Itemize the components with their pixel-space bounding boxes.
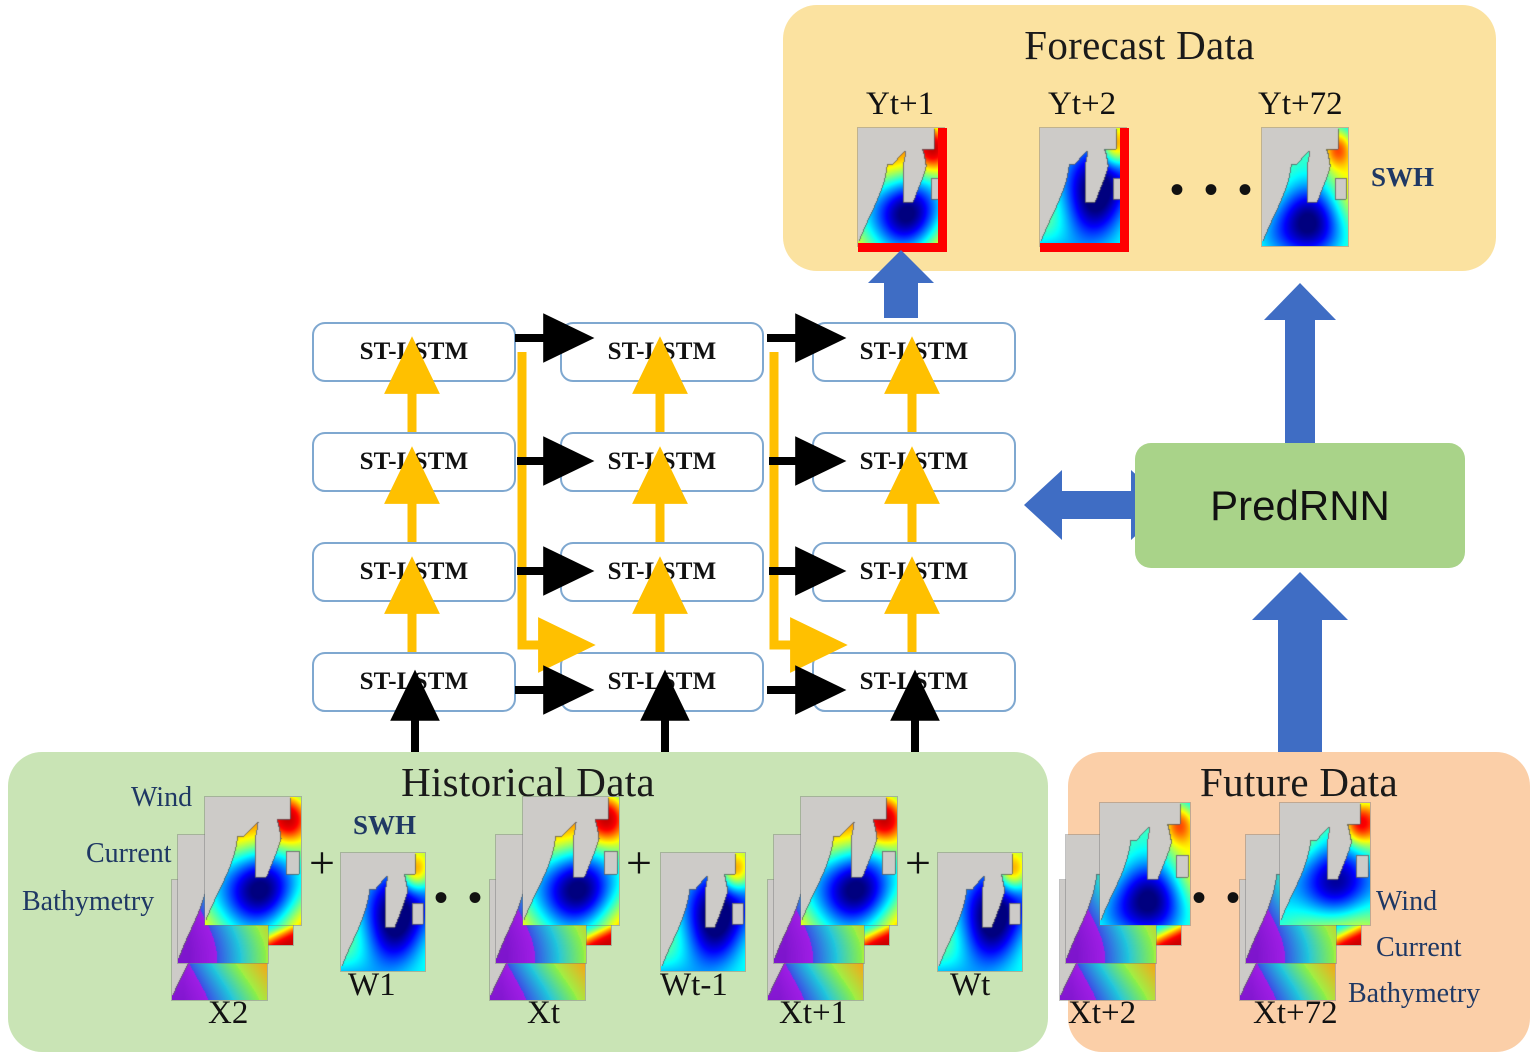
forecast-tile-highlight-0	[938, 128, 947, 252]
historical-tile-swh-1	[341, 853, 425, 971]
forecast-tile-label-2: Yt+72	[1258, 86, 1343, 123]
lstm-cell-r0c1[interactable]: ST-LSTM	[560, 322, 764, 382]
historical-tile-label-4: Xt+1	[779, 995, 847, 1032]
historical-plus-0: +	[309, 840, 335, 886]
lstm-cell-r1c0[interactable]: ST-LSTM	[312, 432, 516, 492]
historical-tile-label-5: Wt	[950, 967, 990, 1004]
historical-plus-1: +	[626, 840, 652, 886]
future-tile-label-0: Xt+2	[1068, 995, 1136, 1032]
lstm-cell-r2c1[interactable]: ST-LSTM	[560, 542, 764, 602]
memory-handoff-col0-col1	[522, 352, 548, 645]
lstm-cell-r0c2[interactable]: ST-LSTM	[812, 322, 1016, 382]
lstm-cell-r3c1[interactable]: ST-LSTM	[560, 652, 764, 712]
lstm-cell-r2c0[interactable]: ST-LSTM	[312, 542, 516, 602]
historical-tile-label-1: W1	[348, 967, 396, 1004]
blue-arrow-future-predrnn	[1252, 572, 1348, 752]
historical-tile-swh-2	[523, 797, 619, 925]
hidden-state-arrows	[515, 338, 804, 690]
future-tile-swh-1	[1280, 803, 1370, 925]
forecast-tile-highlight-0b	[858, 243, 947, 252]
historical-tile-label-2: Xt	[527, 995, 560, 1032]
historical-tile-label-0: X2	[208, 995, 248, 1032]
predrnn-block[interactable]: PredRNN	[1135, 443, 1465, 568]
forecast-map-tile-2	[1262, 128, 1348, 246]
forecast-tile-highlight-1	[1120, 128, 1129, 252]
memory-flow-arrows	[412, 384, 912, 652]
forecast-map-tile-1	[1040, 128, 1126, 246]
forecast-data-title: Forecast Data	[783, 21, 1496, 69]
memory-handoff-col1-col2	[774, 352, 800, 645]
historical-tile-swh-0	[205, 797, 301, 925]
future-tile-swh-0	[1100, 803, 1190, 925]
forecast-swh-label: SWH	[1371, 162, 1434, 193]
future-tile-label-1: Xt+72	[1253, 995, 1338, 1032]
lstm-cell-r1c2[interactable]: ST-LSTM	[812, 432, 1016, 492]
historical-variable-bathymetry: Bathymetry	[22, 886, 154, 918]
future-variable-current: Current	[1376, 932, 1462, 964]
future-variable-bathymetry: Bathymetry	[1348, 978, 1480, 1010]
historical-swh-label: SWH	[353, 810, 416, 841]
historical-plus-2: +	[905, 840, 931, 886]
historical-tile-label-3: Wt-1	[660, 967, 728, 1004]
lstm-cell-r3c2[interactable]: ST-LSTM	[812, 652, 1016, 712]
historical-tile-swh-4	[801, 797, 897, 925]
lstm-cell-r2c2[interactable]: ST-LSTM	[812, 542, 1016, 602]
lstm-cell-r1c1[interactable]: ST-LSTM	[560, 432, 764, 492]
historical-tile-swh-3	[661, 853, 745, 971]
input-arrows	[415, 712, 915, 752]
future-data-title: Future Data	[1068, 758, 1530, 806]
forecast-tile-highlight-1b	[1040, 243, 1129, 252]
forecast-ellipsis: • • •	[1170, 170, 1257, 210]
lstm-cell-r3c0[interactable]: ST-LSTM	[312, 652, 516, 712]
historical-variable-wind: Wind	[131, 782, 192, 814]
lstm-cell-r0c0[interactable]: ST-LSTM	[312, 322, 516, 382]
historical-tile-swh-5	[938, 853, 1022, 971]
forecast-tile-label-1: Yt+2	[1048, 86, 1116, 123]
forecast-map-tile-0	[858, 128, 944, 246]
future-variable-wind: Wind	[1376, 886, 1437, 918]
historical-variable-current: Current	[86, 838, 172, 870]
forecast-tile-label-0: Yt+1	[866, 86, 934, 123]
